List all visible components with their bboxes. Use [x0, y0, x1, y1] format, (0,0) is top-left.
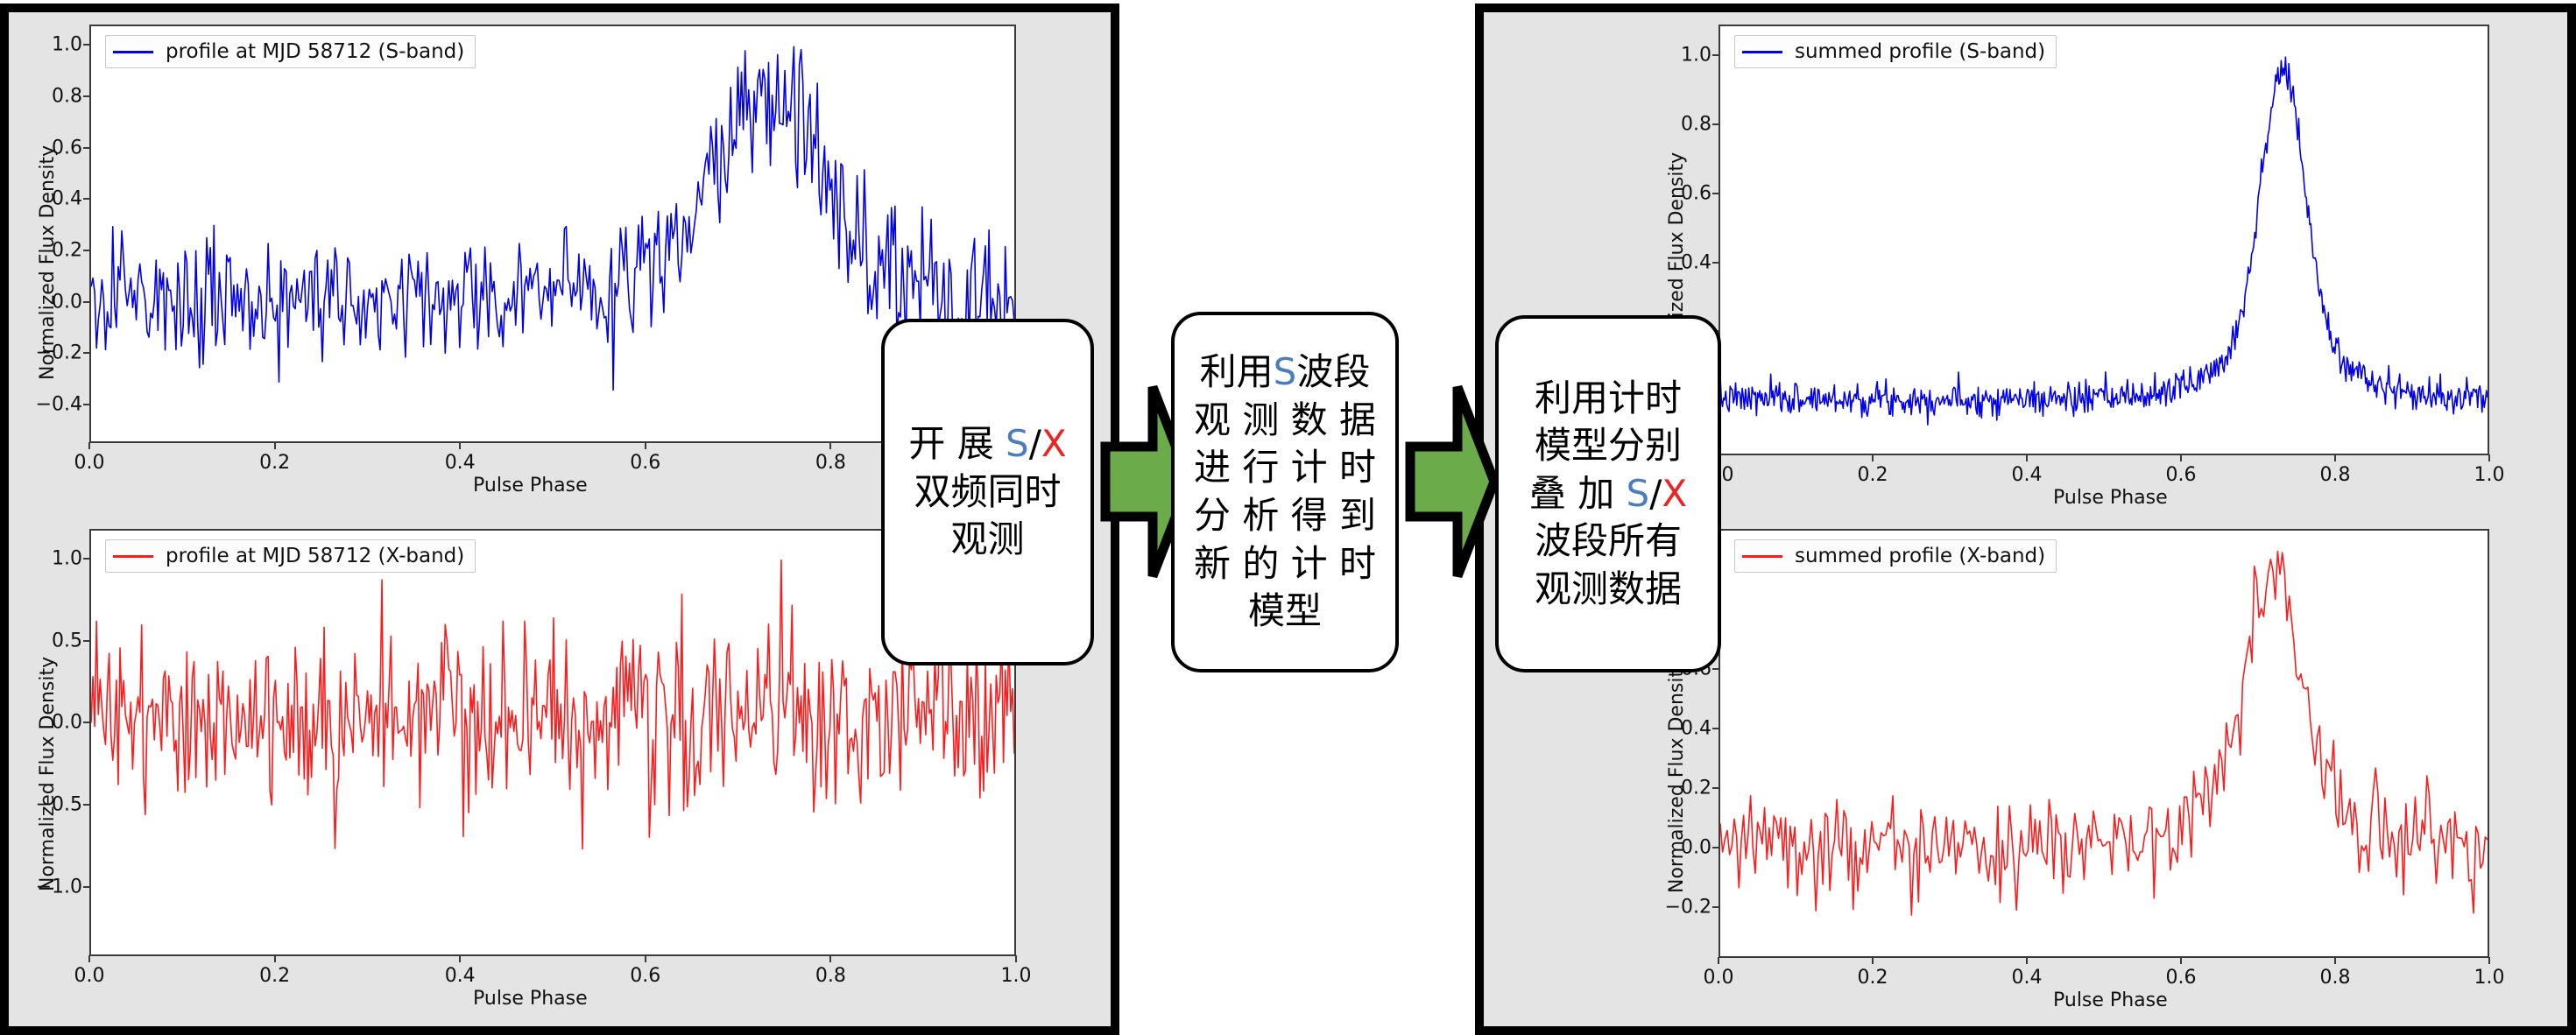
x-tick-label: 0.4 [2012, 967, 2043, 989]
y-tick-mark [83, 886, 90, 888]
y-tick-mark [83, 147, 90, 149]
y-tick-label: 0.6 [30, 137, 82, 158]
y-tick-mark [83, 352, 90, 354]
x-tick-mark [88, 442, 90, 449]
y-tick-mark [83, 198, 90, 200]
x-tick-label: 1.0 [2474, 464, 2505, 486]
x-tick-mark [459, 442, 461, 449]
y-tick-label: 0.0 [30, 291, 82, 313]
x-tick-label: 0.6 [2166, 464, 2197, 486]
x-tick-label: 1.0 [1001, 965, 1032, 987]
legend-swatch-summed-sband [1742, 51, 1782, 53]
legend-summed-sband: summed profile (S-band) [1734, 35, 2057, 68]
x-tick-mark [2488, 454, 2490, 461]
flow-step-timing-analysis[interactable]: 利用S波段观 测 数 据进 行 计 时分 析 得 到新 的 计 时模型 [1171, 312, 1399, 672]
legend-swatch-sband [113, 51, 153, 53]
y-tick-mark [1712, 668, 1719, 670]
legend-single-xband: profile at MJD 58712 (X-band) [105, 539, 476, 573]
x-tick-mark [645, 955, 646, 962]
y-tick-mark [83, 301, 90, 303]
x-tick-label: 0.0 [74, 965, 105, 987]
flow-step-stacking[interactable]: 利用计时模型分别叠 加 S/X波段所有观测数据 [1495, 315, 1721, 672]
flow-step-observe[interactable]: 开 展 S/X双频同时观测 [881, 319, 1094, 665]
x-tick-mark [2180, 454, 2182, 461]
legend-label-summed-xband: summed profile (X-band) [1795, 545, 2045, 567]
y-tick-label: −0.4 [30, 394, 82, 416]
y-tick-mark [83, 404, 90, 405]
plot-area-single-sband [89, 25, 1016, 443]
y-tick-label: 0.2 [30, 240, 82, 262]
legend-swatch-xband [113, 555, 153, 558]
x-tick-label: 0.2 [1858, 967, 1888, 989]
flow-text-line: 开 展 S/X [908, 420, 1066, 468]
flow-text-line: 利用计时 [1529, 375, 1687, 423]
y-tick-label: −0.5 [30, 794, 82, 816]
x-tick-mark [2488, 957, 2490, 964]
y-tick-mark [1712, 54, 1719, 56]
y-tick-label: 1.0 [30, 547, 82, 569]
x-tick-mark [88, 955, 90, 962]
xaxis-label-summed-sband: Pulse Phase [2053, 487, 2168, 509]
flow-text-line: 模型 [1194, 588, 1376, 636]
y-tick-label: 1.0 [30, 34, 82, 56]
y-tick-label: 0.8 [30, 86, 82, 108]
y-tick-label: −1.0 [30, 877, 82, 898]
x-tick-label: 0.2 [1858, 464, 1888, 486]
x-tick-mark [2180, 957, 2182, 964]
y-tick-label: 0.0 [30, 712, 82, 734]
flow-step-timing-analysis-text: 利用S波段观 测 数 据进 行 计 时分 析 得 到新 的 计 时模型 [1194, 349, 1376, 636]
x-tick-mark [2026, 454, 2028, 461]
y-tick-label: 0.0 [1659, 837, 1711, 859]
plot-area-summed-sband [1719, 25, 2489, 455]
y-tick-mark [83, 804, 90, 806]
trace-summed-sband [1720, 26, 2488, 454]
y-tick-mark [83, 640, 90, 642]
plot-area-single-xband [89, 529, 1016, 956]
x-tick-mark [829, 955, 831, 962]
y-tick-mark [83, 558, 90, 560]
y-tick-label: 0.4 [1659, 251, 1711, 273]
x-tick-label: 0.6 [2166, 967, 2197, 989]
plot-area-summed-xband [1719, 529, 2489, 958]
x-tick-label: 0.8 [815, 452, 846, 474]
y-tick-label: 0.4 [1659, 717, 1711, 739]
legend-single-sband: profile at MJD 58712 (S-band) [105, 35, 476, 68]
flow-text-line: 模型分别 [1529, 422, 1687, 470]
x-tick-label: 0.8 [2320, 967, 2351, 989]
xaxis-label-single-xband: Pulse Phase [473, 988, 588, 1010]
flow-text-line: 新 的 计 时 [1194, 540, 1376, 588]
flow-text-line: 观 测 数 据 [1194, 397, 1376, 445]
flow-text-line: 进 行 计 时 [1194, 444, 1376, 492]
flow-text-line: 叠 加 S/X [1529, 470, 1687, 518]
y-tick-label: 0.2 [1659, 778, 1711, 799]
x-tick-label: 1.0 [2474, 967, 2505, 989]
y-tick-mark [1712, 906, 1719, 908]
x-tick-label: 0.8 [2320, 464, 2351, 486]
y-tick-mark [1712, 728, 1719, 729]
x-tick-label: 0.6 [630, 452, 660, 474]
y-tick-label: 0.6 [1659, 182, 1711, 204]
y-tick-mark [1712, 847, 1719, 848]
trace-single-sband [91, 26, 1014, 441]
y-tick-mark [83, 44, 90, 46]
flow-text-line: 波段所有 [1529, 517, 1687, 566]
y-tick-label: −0.2 [1659, 897, 1711, 919]
x-tick-label: 0.8 [815, 965, 846, 987]
x-tick-label: 0.4 [2012, 464, 2043, 486]
y-tick-mark [1712, 787, 1719, 789]
y-tick-mark [83, 95, 90, 97]
y-tick-label: 1.0 [1659, 45, 1711, 67]
x-tick-mark [2334, 454, 2336, 461]
x-tick-mark [459, 955, 461, 962]
x-tick-mark [1872, 454, 1874, 461]
arrow-2-icon [1403, 377, 1500, 587]
y-tick-label: 0.4 [30, 188, 82, 210]
y-tick-label: 0.8 [1659, 114, 1711, 136]
x-tick-mark [829, 442, 831, 449]
flow-text-line: 观测 [908, 516, 1066, 564]
x-tick-label: 0.4 [445, 965, 476, 987]
yaxis-label-single-xband: Normalized Flux Density [37, 657, 59, 891]
x-tick-label: 0.6 [630, 965, 660, 987]
y-tick-mark [1712, 262, 1719, 264]
y-tick-mark [1712, 193, 1719, 194]
flow-step-observe-text: 开 展 S/X双频同时观测 [908, 420, 1066, 564]
x-tick-mark [2026, 957, 2028, 964]
y-tick-mark [1712, 123, 1719, 125]
x-tick-mark [274, 442, 276, 449]
legend-label-single-sband: profile at MJD 58712 (S-band) [166, 40, 464, 63]
x-tick-mark [645, 442, 646, 449]
x-tick-mark [1015, 955, 1017, 962]
y-tick-label: −0.2 [30, 342, 82, 364]
x-tick-label: 0.0 [74, 452, 105, 474]
flow-text-line: 观测数据 [1529, 566, 1687, 614]
x-tick-mark [1718, 957, 1719, 964]
legend-label-single-xband: profile at MJD 58712 (X-band) [166, 545, 464, 567]
trace-summed-xband [1720, 531, 2488, 956]
x-tick-label: 0.0 [1704, 967, 1734, 989]
y-tick-label: 0.5 [30, 630, 82, 651]
flow-text-line: 利用S波段 [1194, 349, 1376, 397]
legend-label-summed-sband: summed profile (S-band) [1795, 40, 2045, 63]
x-tick-label: 0.2 [259, 452, 290, 474]
y-tick-mark [83, 250, 90, 251]
x-tick-label: 0.2 [259, 965, 290, 987]
trace-single-xband [91, 531, 1014, 954]
y-tick-mark [83, 722, 90, 723]
legend-summed-xband: summed profile (X-band) [1734, 539, 2057, 573]
x-tick-mark [2334, 957, 2336, 964]
x-tick-mark [1872, 957, 1874, 964]
x-tick-mark [274, 955, 276, 962]
flow-text-line: 分 析 得 到 [1194, 492, 1376, 540]
flow-text-line: 双频同时 [908, 468, 1066, 517]
flow-step-stacking-text: 利用计时模型分别叠 加 S/X波段所有观测数据 [1529, 375, 1687, 614]
legend-swatch-summed-xband [1742, 555, 1782, 558]
x-tick-label: 0.4 [445, 452, 476, 474]
xaxis-label-summed-xband: Pulse Phase [2053, 989, 2168, 1011]
xaxis-label-single-sband: Pulse Phase [473, 475, 588, 496]
